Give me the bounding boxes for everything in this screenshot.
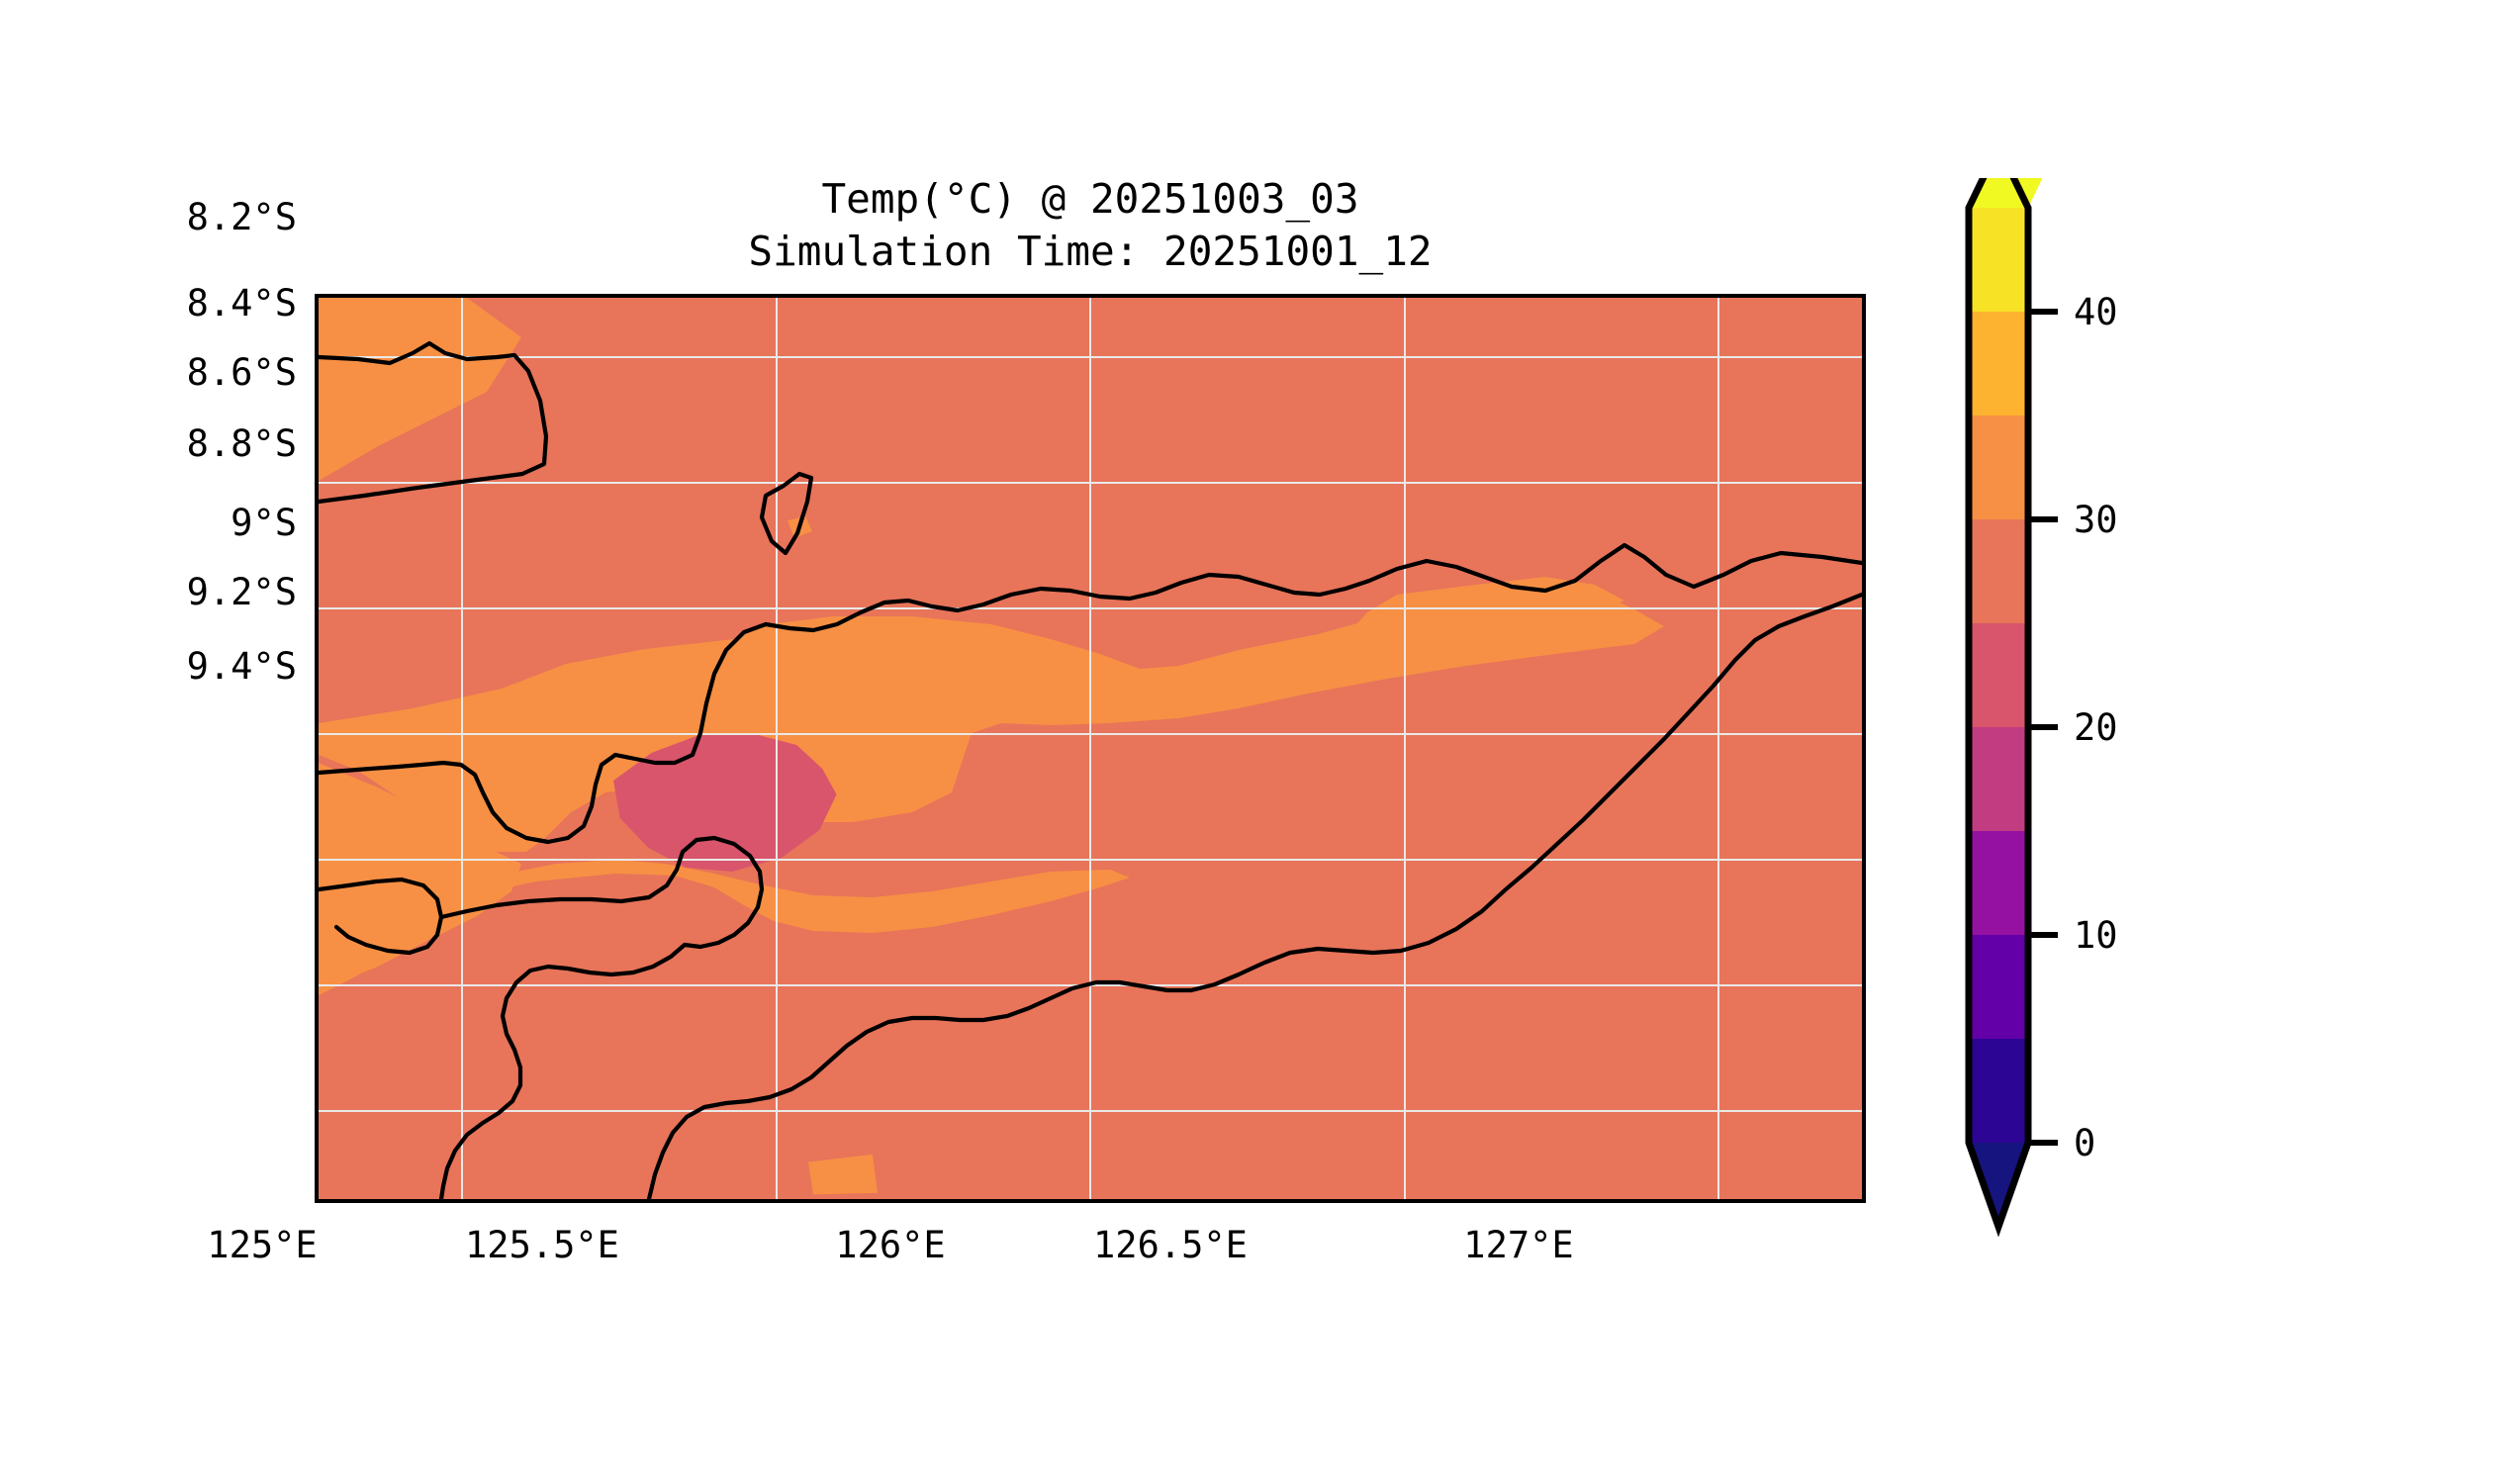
ytick-label-2: 8.6°S — [59, 354, 297, 391]
figure-canvas: Temp(°C) @ 20251003_03 Simulation Time: … — [0, 0, 2504, 1484]
ytick-label-6: 9.4°S — [59, 648, 297, 685]
colorbar-tick-label-0: 0 — [2074, 1125, 2095, 1161]
map-contour-plot — [319, 298, 1862, 1199]
xtick-label-2: 126°E — [762, 1227, 1019, 1263]
xtick-label-1: 125.5°E — [414, 1227, 671, 1263]
map-axes[interactable] — [315, 294, 1866, 1203]
colorbar-tick-label-10: 10 — [2074, 917, 2118, 954]
colorbar-tick-label-30: 30 — [2074, 502, 2118, 538]
colorbar-graphic — [1964, 178, 2191, 1345]
xtick-label-0: 125°E — [134, 1227, 391, 1263]
ytick-label-5: 9.2°S — [59, 574, 297, 610]
ytick-label-3: 8.8°S — [59, 425, 297, 462]
colorbar-bands — [1969, 178, 2058, 1227]
title-line-2: Simulation Time: 20251001_12 — [315, 226, 1866, 278]
title-line-1: Temp(°C) @ 20251003_03 — [315, 173, 1866, 226]
colorbar-ticks — [2028, 312, 2058, 1143]
colorbar-extend-min-arrow — [1969, 1143, 2028, 1227]
ytick-label-4: 9°S — [59, 505, 297, 541]
colorbar-tick-label-40: 40 — [2074, 294, 2118, 330]
colorbar[interactable]: 40 30 20 10 0 — [1964, 178, 2191, 1345]
xtick-label-4: 127°E — [1390, 1227, 1647, 1263]
chart-title: Temp(°C) @ 20251003_03 Simulation Time: … — [315, 173, 1866, 278]
ytick-label-1: 8.4°S — [59, 285, 297, 322]
ytick-label-0: 8.2°S — [59, 199, 297, 235]
colorbar-tick-label-20: 20 — [2074, 709, 2118, 746]
xtick-label-3: 126.5°E — [1042, 1227, 1299, 1263]
